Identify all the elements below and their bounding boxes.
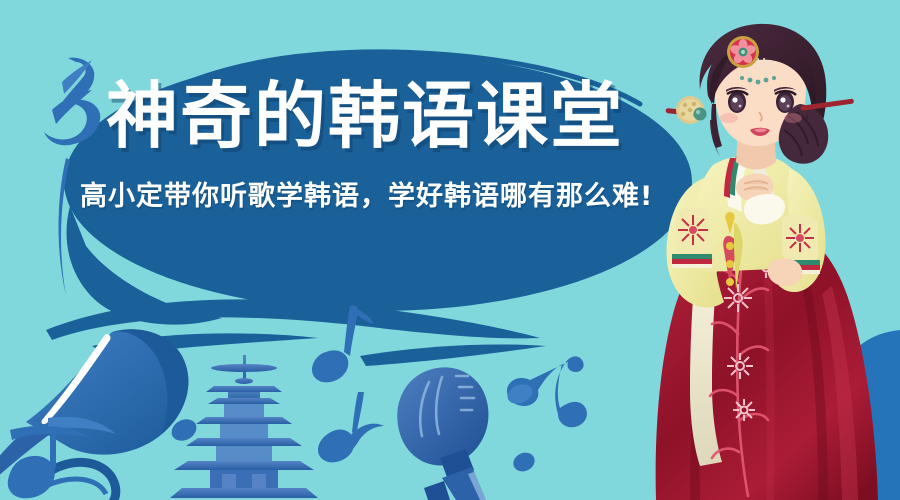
korean-language-class-banner: 神奇的韩语课堂 高小定带你听歌学韩语，学好韩语哪有那么难! — [0, 0, 900, 500]
flower-hairpin-icon — [727, 36, 759, 68]
left-cuff-embroidery — [672, 208, 712, 269]
korean-girl-in-hanbok — [0, 0, 900, 500]
